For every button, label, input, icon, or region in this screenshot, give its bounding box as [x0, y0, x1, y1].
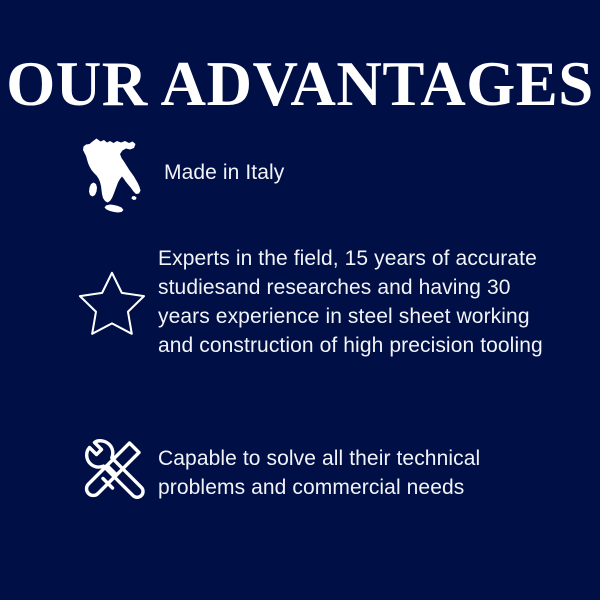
- wrench-screwdriver-icon: [70, 432, 154, 514]
- feature-text-tools: Capable to solve all their technical pro…: [154, 432, 518, 502]
- feature-item-made-in-italy: Made in Italy: [70, 134, 590, 214]
- advantages-poster: OUR ADVANTAGES Made in Italy Experts in …: [0, 0, 600, 600]
- feature-item-tools: Capable to solve all their technical pro…: [70, 432, 590, 514]
- italy-map-icon: [70, 134, 154, 214]
- feature-text-experts: Experts in the field, 15 years of accura…: [154, 244, 548, 360]
- page-title: OUR ADVANTAGES: [0, 52, 600, 116]
- feature-item-experts: Experts in the field, 15 years of accura…: [70, 244, 590, 360]
- star-icon: [70, 244, 154, 336]
- feature-text-made-in-italy: Made in Italy: [154, 134, 284, 187]
